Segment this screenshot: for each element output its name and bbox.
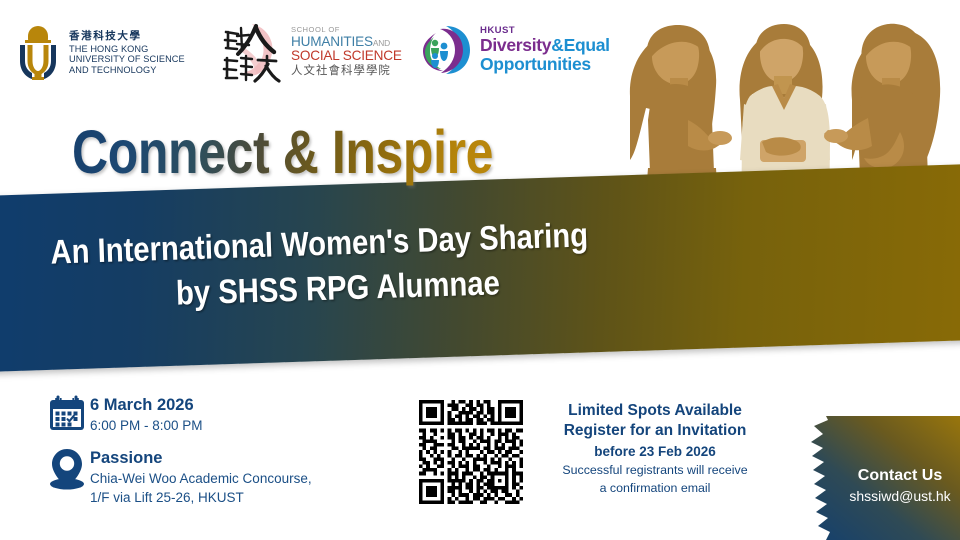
hkust-name-line-2: UNIVERSITY OF SCIENCE xyxy=(69,54,185,64)
poster-canvas: Connect & Inspire An International Women… xyxy=(0,0,960,540)
hkust-name-line-3: AND TECHNOLOGY xyxy=(69,65,185,75)
deo-word-opportunities: Opportunities xyxy=(480,55,610,74)
shss-logo: SCHOOL OF HUMANITIESAND SOCIAL SCIENCE 人… xyxy=(222,20,402,84)
deo-logo: HKUST Diversity&Equal Opportunities xyxy=(420,24,610,76)
hkust-name-line-1: THE HONG KONG xyxy=(69,44,185,54)
registration-note-line-2: a confirmation email xyxy=(536,480,774,497)
venue-row: Passione Chia-Wei Woo Academic Concourse… xyxy=(44,447,312,507)
date-row: 6 March 2026 6:00 PM - 8:00 PM xyxy=(44,394,312,435)
registration-qr-code[interactable] xyxy=(419,400,523,504)
venue-address-line-1: Chia-Wei Woo Academic Concourse, xyxy=(90,470,312,489)
shss-line-social-science: SOCIAL SCIENCE xyxy=(291,49,402,63)
shss-calligraphy-icon xyxy=(222,20,284,84)
venue-name: Passione xyxy=(90,448,312,469)
contact-title: Contact Us xyxy=(840,466,960,487)
calendar-icon xyxy=(44,394,90,434)
registration-info: Limited Spots Available Register for an … xyxy=(536,401,774,497)
registration-deadline: before 23 Feb 2026 xyxy=(536,442,774,461)
bottom-info-section: 6 March 2026 6:00 PM - 8:00 PM Passione … xyxy=(0,386,960,540)
deo-swirl-icon xyxy=(420,24,472,76)
contact-email[interactable]: shssiwd@ust.hk xyxy=(840,487,960,507)
event-details: 6 March 2026 6:00 PM - 8:00 PM Passione … xyxy=(44,394,312,519)
deo-word-diversity: Diversity xyxy=(480,35,551,55)
event-time: 6:00 PM - 8:00 PM xyxy=(90,417,203,436)
registration-note-line-1: Successful registrants will receive xyxy=(536,462,774,479)
shss-chinese-name: 人文社會科學學院 xyxy=(291,64,402,78)
shss-line-and: AND xyxy=(373,38,390,48)
subtitle: An International Women's Day Sharing by … xyxy=(43,213,596,321)
registration-line-2: Register for an Invitation xyxy=(536,421,774,441)
contact-text: Contact Us shssiwd@ust.hk xyxy=(840,466,960,506)
deo-word-equal: Equal xyxy=(564,35,610,55)
deo-word-ampersand: & xyxy=(551,35,563,55)
location-pin-icon xyxy=(44,447,90,491)
contact-badge: Contact Us shssiwd@ust.hk xyxy=(790,416,960,540)
logo-row: 香港科技大學 THE HONG KONG UNIVERSITY OF SCIEN… xyxy=(0,0,960,108)
hkust-logo: 香港科技大學 THE HONG KONG UNIVERSITY OF SCIEN… xyxy=(16,24,185,82)
registration-line-1: Limited Spots Available xyxy=(536,401,774,421)
hkust-chinese-name: 香港科技大學 xyxy=(69,31,185,43)
page-title: Connect & Inspire xyxy=(72,117,493,187)
venue-address-line-2: 1/F via Lift 25-26, HKUST xyxy=(90,489,312,508)
event-date: 6 March 2026 xyxy=(90,395,203,416)
hkust-emblem-icon xyxy=(16,24,60,82)
shss-line-humanities: HUMANITIES xyxy=(291,34,373,49)
